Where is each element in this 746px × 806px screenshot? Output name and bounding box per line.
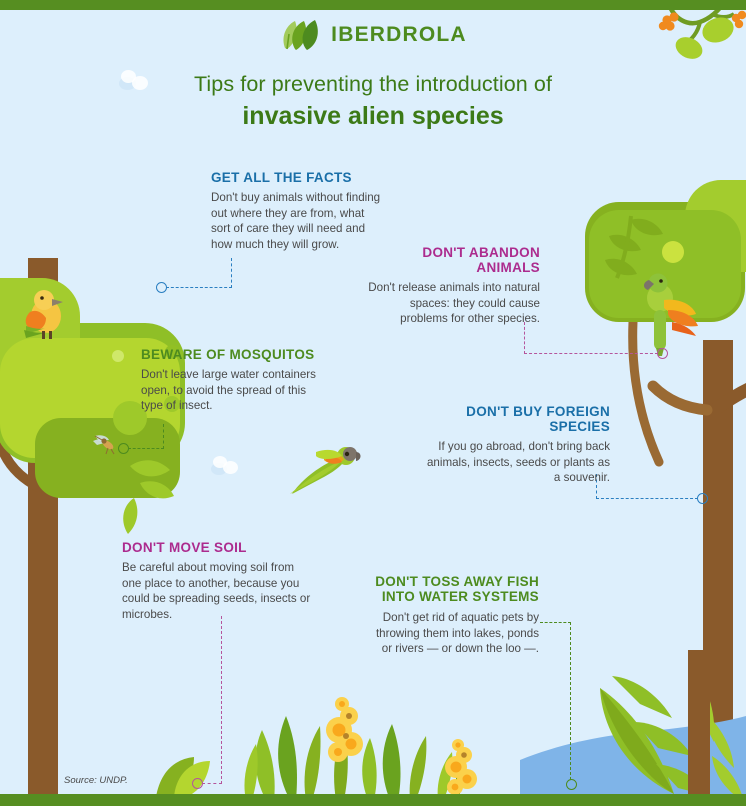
tip-heading-line-1: DON'T TOSS AWAY FISH	[375, 574, 539, 589]
source-note: Source: UNDP.	[64, 775, 128, 786]
connector-line	[540, 622, 571, 623]
infographic-page: IBERDROLA Tips for preventing the introd…	[0, 0, 746, 806]
tip-dont-abandon-animals: DON'T ABANDON ANIMALS Don't release anim…	[359, 245, 540, 327]
tip-body: Don't buy animals without finding out wh…	[211, 190, 383, 252]
tip-body: Be careful about moving soil from one pl…	[122, 560, 314, 622]
tip-body: If you go abroad, don't bring back anima…	[424, 439, 610, 486]
tip-heading-line-2: INTO WATER SYSTEMS	[382, 589, 539, 604]
connector-dont-toss-away-fish	[0, 0, 746, 806]
tip-heading: BEWARE OF MOSQUITOS	[141, 347, 319, 362]
tip-body: Don't leave large water containers open,…	[141, 367, 319, 414]
tip-body: Don't release animals into natural space…	[359, 280, 540, 327]
tip-body: Don't get rid of aquatic pets by throwin…	[372, 610, 539, 657]
connector-dot	[566, 779, 577, 790]
tip-dont-buy-foreign-species: DON'T BUY FOREIGN SPECIES If you go abro…	[424, 404, 610, 486]
top-bar	[0, 0, 746, 10]
tip-beware-of-mosquitos: BEWARE OF MOSQUITOS Don't leave large wa…	[141, 347, 319, 414]
tip-heading: DON'T MOVE SOIL	[122, 540, 314, 555]
tip-dont-toss-away-fish: DON'T TOSS AWAY FISH INTO WATER SYSTEMS …	[372, 574, 539, 657]
tip-dont-move-soil: DON'T MOVE SOIL Be careful about moving …	[122, 540, 314, 622]
tip-get-all-the-facts: GET ALL THE FACTS Don't buy animals with…	[211, 170, 383, 252]
tip-heading: DON'T TOSS AWAY FISH INTO WATER SYSTEMS	[372, 574, 539, 604]
bottom-bar	[0, 794, 746, 806]
tip-heading: DON'T BUY FOREIGN SPECIES	[424, 404, 610, 434]
connector-line	[570, 622, 571, 780]
tip-heading: GET ALL THE FACTS	[211, 170, 383, 185]
tip-heading: DON'T ABANDON ANIMALS	[359, 245, 540, 275]
